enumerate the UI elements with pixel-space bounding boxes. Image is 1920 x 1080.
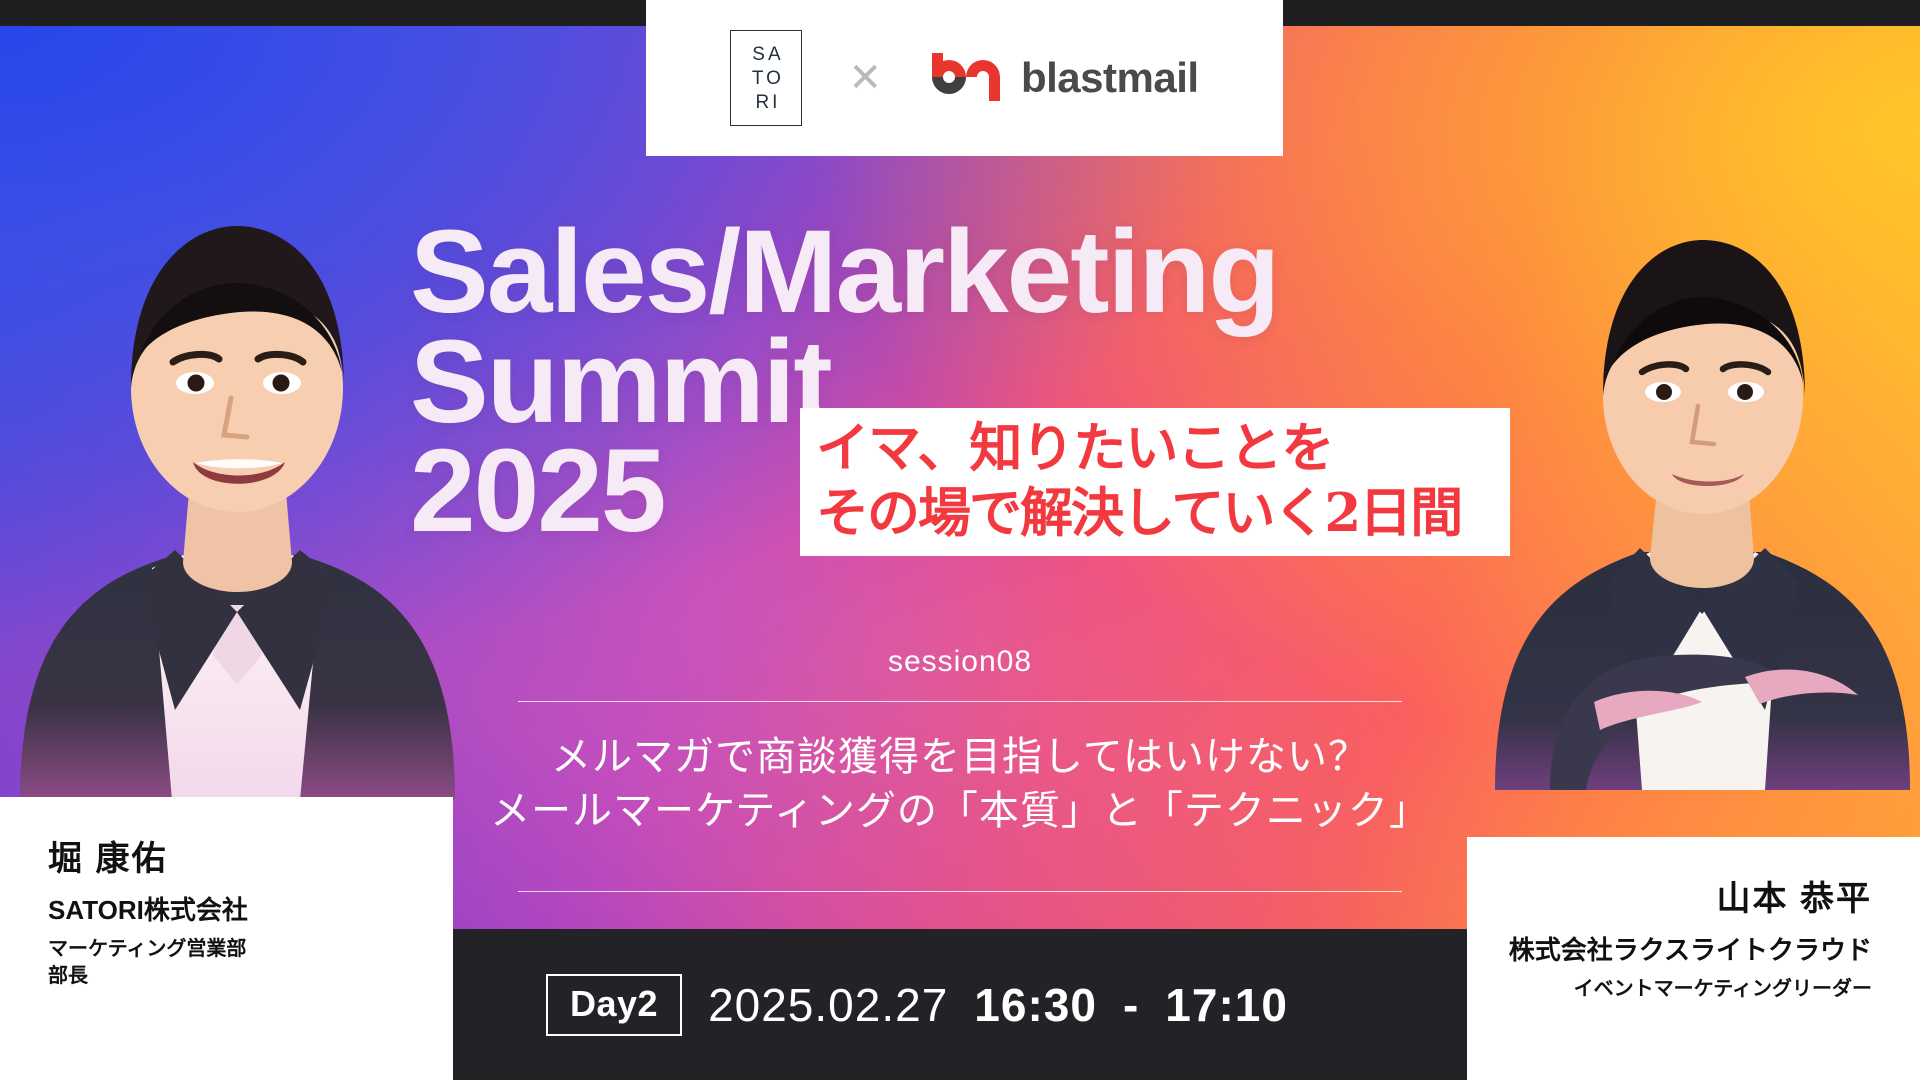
speaker-right-org: 株式会社ラクスライトクラウド [1509,934,1872,967]
end-time: 17:10 [1165,978,1288,1032]
divider-bottom [518,891,1402,892]
speaker-left-portrait [0,150,470,800]
start-time: 16:30 [974,978,1097,1032]
tagline-line-1: イマ、知りたいことを [816,417,1496,480]
speaker-left-org: SATORI株式会社 [48,894,453,927]
schedule-bar: Day2 2025.02.27 16:30 - 17:10 [453,929,1467,1080]
title-line-1: Sales/Marketing [410,218,1550,328]
speaker-right-portrait [1490,190,1920,790]
speaker-left-role-line-2: 部長 [48,963,453,990]
speaker-card-right: 山本 恭平 株式会社ラクスライトクラウド イベントマーケティングリーダー [1467,837,1920,1080]
speaker-card-left: 堀 康佑 SATORI株式会社 マーケティング営業部 部長 [0,797,453,1080]
satori-line-3: RI [752,93,780,112]
speaker-left-role-line-1: マーケティング営業部 [48,936,453,963]
day-badge: Day2 [546,974,682,1036]
tagline-callout: イマ、知りたいことを その場で解決していく2日間 [800,408,1510,556]
event-date: 2025.02.27 [708,978,948,1032]
portrait-left-illustration [0,150,470,800]
blastmail-bn-mark-icon [928,51,1004,105]
satori-line-1: SA [749,45,783,64]
satori-logo[interactable]: SA TO RI [730,30,802,126]
blastmail-wordmark: blastmail [1021,57,1199,99]
time-separator: - [1123,978,1139,1032]
speaker-right-name: 山本 恭平 [1717,879,1872,920]
event-banner: SA TO RI ✕ blastmail Sales/Marketing Sum… [0,0,1920,1080]
cross-icon: ✕ [848,58,882,98]
blastmail-logo[interactable]: blastmail [928,51,1199,105]
logo-plate: SA TO RI ✕ blastmail [646,0,1283,156]
portrait-right-illustration [1490,190,1920,790]
speaker-right-role-line-1: イベントマーケティングリーダー [1574,976,1872,1003]
satori-line-2: TO [749,69,784,88]
speaker-left-name: 堀 康佑 [48,839,453,880]
session-title-line-1: メルマガで商談獲得を目指してはいけない？ [0,730,1920,784]
tagline-line-2: その場で解決していく2日間 [816,482,1496,545]
divider-top [518,701,1402,702]
session-label: session08 [0,645,1920,679]
